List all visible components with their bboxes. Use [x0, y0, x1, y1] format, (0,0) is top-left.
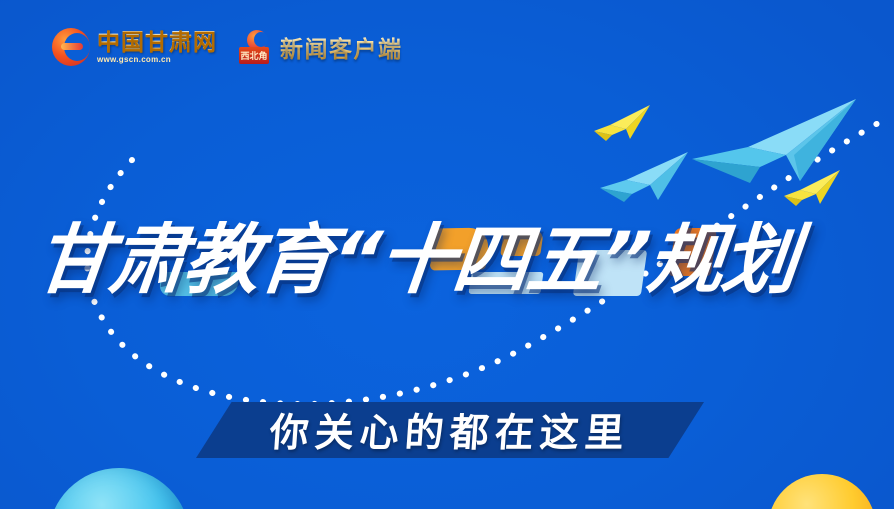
subtitle-banner: 你关心的都在这里 [196, 402, 704, 458]
page-title-text: 甘肃教育“十四五”规划 [32, 222, 800, 298]
page-title: 甘肃教育“十四五”规划 [36, 222, 796, 298]
logo-bar: 中国甘肃网 www.gscn.com.cn 西北角 新闻客户端 [52, 28, 403, 66]
flame-swoosh-icon [52, 28, 90, 66]
logo-gansu-net-label: 中国甘肃网 [97, 31, 217, 54]
paper-plane-small-yellow-upper [592, 103, 654, 143]
logo-news-client-label: 新闻客户端 [280, 30, 403, 64]
seal-stamp-icon: 西北角 [239, 30, 273, 64]
poster-canvas: 中国甘肃网 www.gscn.com.cn 西北角 新闻客户端 [0, 0, 894, 509]
subtitle-text: 你关心的都在这里 [268, 402, 632, 458]
paper-plane-small-yellow-lower [782, 168, 844, 208]
seal-stamp-label: 西北角 [239, 47, 269, 64]
paper-plane-medium-blue [598, 150, 692, 204]
logo-gansu-net-url: www.gscn.com.cn [97, 56, 217, 64]
logo-gansu-net[interactable]: 中国甘肃网 www.gscn.com.cn [52, 28, 217, 66]
logo-news-client[interactable]: 西北角 新闻客户端 [239, 30, 403, 64]
